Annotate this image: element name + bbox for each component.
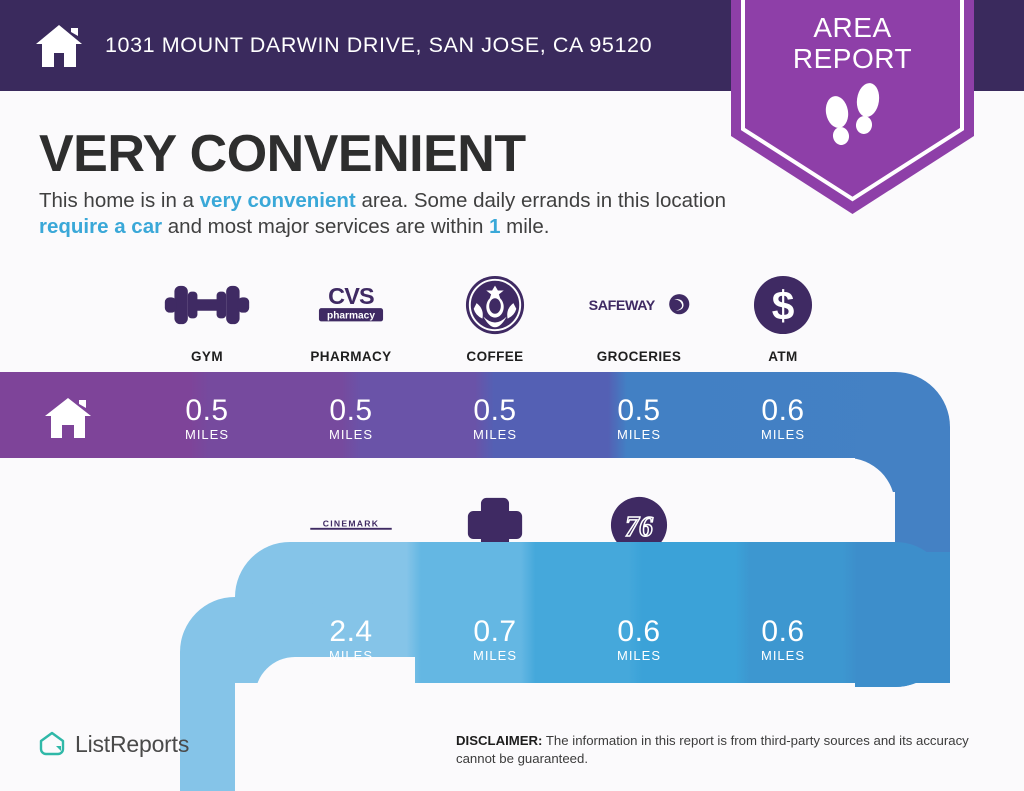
distance-value: 2.4 — [329, 616, 372, 647]
distance-unit: MILES — [617, 427, 661, 443]
area-report-infographic: 1031 MOUNT DARWIN DRIVE, SAN JOSE, CA 95… — [0, 0, 1024, 791]
home-icon — [33, 23, 85, 69]
amenity-label: ATM — [768, 349, 797, 364]
amenity-label: PHARMACY — [310, 349, 391, 364]
summary-highlight-1: very convenient — [200, 189, 356, 212]
summary-part-3: and most major services are within — [162, 215, 489, 238]
svg-text:CVS: CVS — [328, 283, 374, 309]
summary-part-2: area. Some daily errands in this locatio… — [356, 189, 726, 212]
distance-unit: MILES — [761, 427, 805, 443]
distance-cell-movie-theater: 2.4 MILES — [279, 597, 423, 683]
safeway-logo: SAFEWAY — [587, 272, 691, 338]
amenity-coffee: COFFEE — [423, 272, 567, 364]
area-report-badge: AREA REPORT — [731, 0, 974, 214]
amenity-icon-row-top: GYM CVS pharmacy PHARMACY — [135, 272, 855, 364]
amenity-pharmacy: CVS pharmacy PHARMACY — [279, 272, 423, 364]
svg-text:SAFEWAY: SAFEWAY — [589, 298, 656, 314]
disclaimer: DISCLAIMER: The information in this repo… — [456, 732, 991, 768]
listreports-logo: ListReports — [38, 730, 189, 758]
badge-line-1: AREA — [731, 12, 974, 43]
summary-part-4: mile. — [500, 215, 549, 238]
badge-title: AREA REPORT — [731, 12, 974, 74]
badge-line-2: REPORT — [731, 43, 974, 74]
summary-highlight-2: require a car — [39, 215, 162, 238]
distance-unit: MILES — [473, 648, 517, 664]
amenity-groceries: SAFEWAY GROCERIES — [567, 272, 711, 364]
distance-unit: MILES — [185, 427, 229, 443]
distance-value: 0.6 — [761, 616, 804, 647]
distance-cell-medical: 0.7 MILES — [423, 597, 567, 683]
distance-unit: MILES — [329, 427, 373, 443]
distance-values-top: 0.5 MILES 0.5 MILES 0.5 MILES 0.5 MILES … — [135, 376, 855, 462]
distance-unit: MILES — [329, 648, 373, 664]
distance-cell-pharmacy: 0.5 MILES — [279, 376, 423, 462]
summary-highlight-3: 1 — [489, 215, 500, 238]
starbucks-logo — [464, 272, 526, 338]
summary-text: This home is in a very convenient area. … — [39, 188, 729, 240]
distance-cell-cleaners: 0.6 MILES — [711, 597, 855, 683]
cvs-pharmacy-logo: CVS pharmacy — [308, 272, 394, 338]
amenity-label: COFFEE — [466, 349, 523, 364]
distance-cell-atm: 0.6 MILES — [711, 376, 855, 462]
distance-unit: MILES — [617, 648, 661, 664]
distance-value: 0.5 — [473, 395, 516, 426]
distance-value: 0.7 — [473, 616, 516, 647]
summary-part-1: This home is in a — [39, 189, 200, 212]
listreports-logo-icon — [38, 730, 66, 758]
distance-unit: MILES — [473, 427, 517, 443]
distance-cell-gas: 0.6 MILES — [567, 597, 711, 683]
page-title: VERY CONVENIENT — [39, 124, 526, 184]
distance-value: 0.6 — [617, 616, 660, 647]
distance-value: 0.6 — [761, 395, 804, 426]
distance-cell-gym: 0.5 MILES — [135, 376, 279, 462]
svg-text:pharmacy: pharmacy — [327, 310, 375, 321]
svg-text:$: $ — [772, 283, 795, 329]
distance-value: 0.5 — [617, 395, 660, 426]
amenity-label: GROCERIES — [597, 349, 682, 364]
distance-cell-groceries: 0.5 MILES — [567, 376, 711, 462]
amenity-atm: $ ATM — [711, 272, 855, 364]
amenity-gym: GYM — [135, 272, 279, 364]
distance-unit: MILES — [761, 648, 805, 664]
dumbbell-icon — [161, 272, 253, 338]
distance-cell-coffee: 0.5 MILES — [423, 376, 567, 462]
distance-values-bottom: 2.4 MILES 0.7 MILES 0.6 MILES 0.6 MILES — [135, 597, 855, 683]
disclaimer-label: DISCLAIMER: — [456, 733, 542, 748]
home-icon — [42, 396, 94, 440]
distance-value: 0.5 — [185, 395, 228, 426]
distance-value: 0.5 — [329, 395, 372, 426]
property-address: 1031 MOUNT DARWIN DRIVE, SAN JOSE, CA 95… — [105, 33, 652, 58]
listreports-logo-text: ListReports — [75, 731, 189, 758]
dollar-circle-icon: $ — [753, 272, 813, 338]
amenity-label: GYM — [191, 349, 223, 364]
distance-cell-spacer — [135, 597, 279, 683]
